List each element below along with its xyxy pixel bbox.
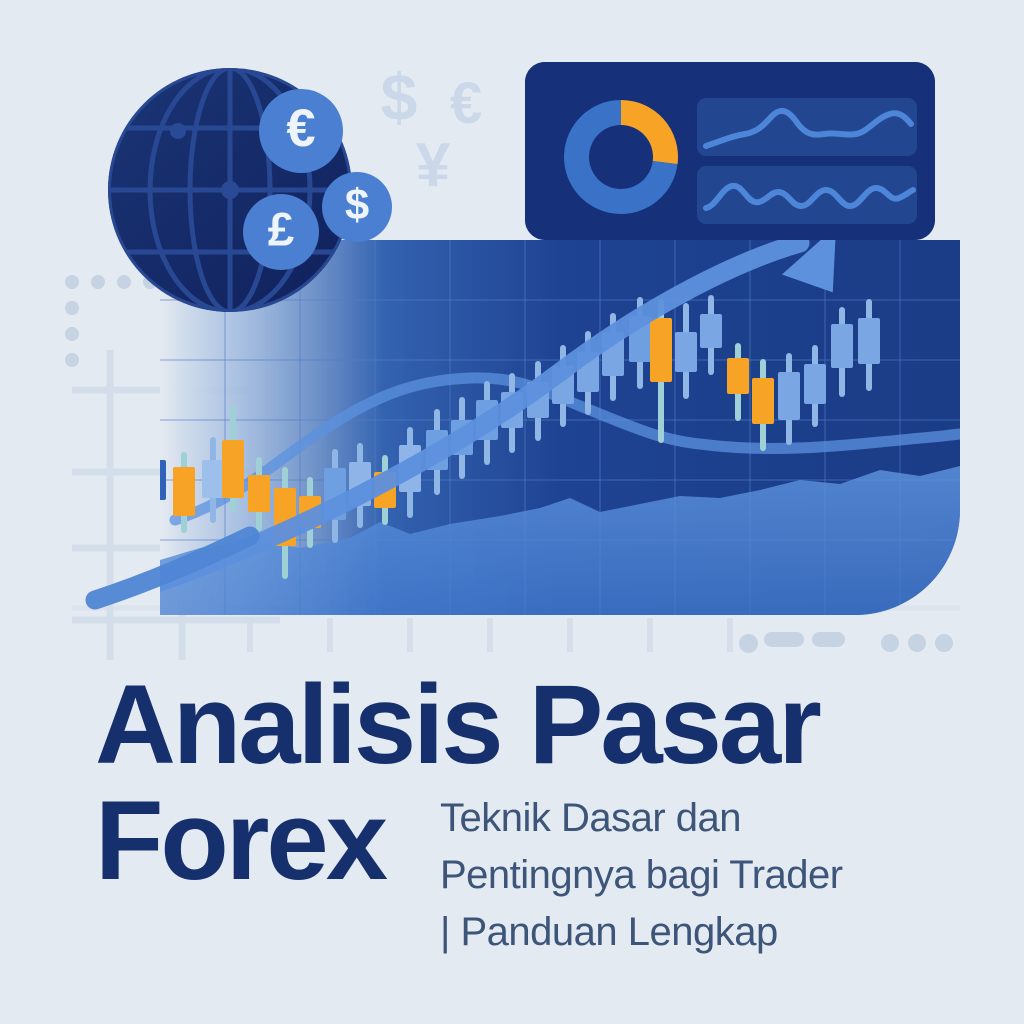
subtitle-line-1: Teknik Dasar dan (440, 798, 741, 838)
page-title-line-1: Analisis Pasar (95, 669, 819, 781)
candle-body (804, 364, 826, 404)
sparkline-panel-top (697, 98, 917, 156)
candle-body (778, 372, 800, 420)
candle-body (752, 378, 774, 424)
dollar-watermark: $ (381, 60, 418, 134)
dollar-coin-glyph: $ (345, 181, 369, 230)
grid-dot (91, 275, 105, 289)
grid-dot (117, 275, 131, 289)
candle-body (831, 324, 853, 368)
globe-node-left (170, 123, 186, 139)
pill-dot-2 (881, 634, 899, 652)
subtitle-line-3: | Panduan Lengkap (440, 912, 778, 952)
candle-body (700, 314, 722, 348)
candle-body (675, 332, 697, 372)
euro-coin-glyph: € (286, 99, 315, 158)
yen-watermark: ¥ (416, 131, 451, 200)
pill-bar-1 (764, 632, 804, 647)
pound-coin-glyph: £ (268, 204, 294, 257)
grid-dot (65, 327, 79, 341)
page-title-line-2: Forex (95, 785, 385, 897)
grid-dot (65, 301, 79, 315)
pill-bar-2 (812, 632, 845, 647)
candle-body (248, 475, 270, 512)
pill-dot-4 (935, 634, 953, 652)
grid-dot (65, 275, 79, 289)
headline-block: Analisis Pasar Forex Teknik Dasar dan Pe… (0, 655, 1024, 965)
candle-body (858, 318, 880, 364)
candle-body (222, 440, 244, 498)
candle-body (650, 318, 672, 382)
euro-watermark: € (450, 71, 482, 136)
subtitle-line-2: Pentingnya bagi Trader (440, 855, 843, 895)
pill-dot-1 (739, 634, 758, 653)
candle-body (173, 467, 195, 516)
analytics-dashboard-card[interactable] (525, 62, 935, 240)
grid-dot (65, 353, 79, 367)
globe-node-center (221, 181, 239, 199)
candle-body (727, 358, 749, 394)
poster-canvas: $€¥ €£$ Analisis Pasar Forex Teknik Dasa… (0, 0, 1024, 1024)
pill-dot-3 (908, 634, 926, 652)
candle-body (202, 460, 224, 498)
